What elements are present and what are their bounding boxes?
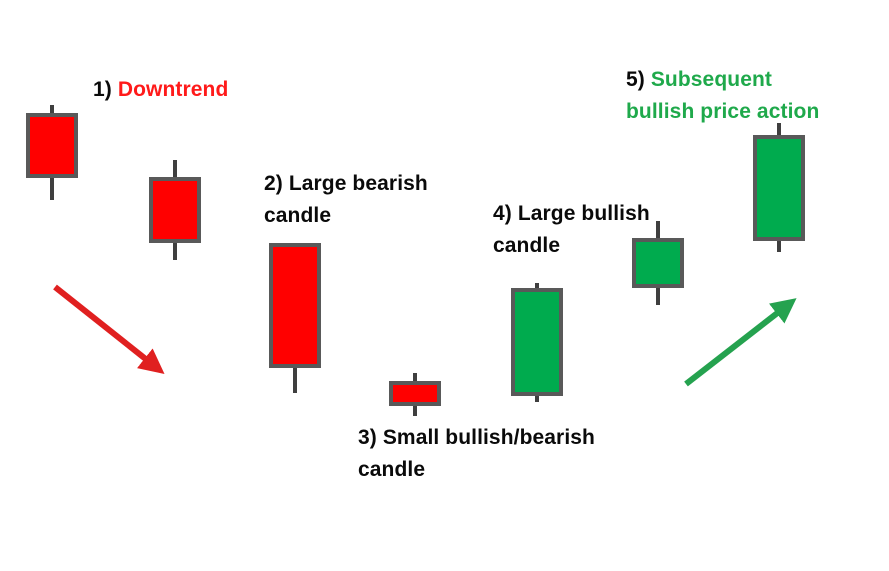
candlestick-2 <box>149 160 201 260</box>
candle-body-bearish <box>26 113 78 178</box>
candlestick-1 <box>26 105 78 200</box>
annotation-number: 3) <box>358 426 383 449</box>
candle-body-bearish <box>149 177 201 243</box>
annotation-number: 2) <box>264 172 289 195</box>
annotation-number: 1) <box>93 78 118 101</box>
candlestick-4 <box>389 373 441 416</box>
candle-body-bullish <box>511 288 563 396</box>
annotation-large-bearish-candle: 2) Large bearish candle <box>264 168 428 232</box>
annotation-downtrend: 1) Downtrend <box>93 74 228 106</box>
annotation-number: 5) <box>626 68 651 91</box>
candlestick-7 <box>753 123 805 252</box>
annotation-subsequent-bullish: 5) Subsequent bullish price action <box>626 64 819 128</box>
candle-body-bearish <box>269 243 321 368</box>
uptrend-arrow <box>686 304 789 384</box>
annotation-text: Subsequent bullish price action <box>626 68 819 123</box>
candle-body-bearish <box>389 381 441 406</box>
annotation-large-bullish-candle: 4) Large bullish candle <box>493 198 650 262</box>
candlestick-5 <box>511 283 563 402</box>
downtrend-arrow <box>55 287 157 368</box>
annotation-text: Downtrend <box>118 78 229 101</box>
annotation-small-candle: 3) Small bullish/bearish candle <box>358 422 595 486</box>
annotation-number: 4) <box>493 202 518 225</box>
annotation-text: Large bearish candle <box>264 172 428 227</box>
candlestick-diagram-canvas: 1) Downtrend2) Large bearish candle3) Sm… <box>0 0 889 571</box>
annotation-text: Small bullish/bearish candle <box>358 426 595 481</box>
candle-body-bullish <box>753 135 805 241</box>
candlestick-3 <box>269 243 321 393</box>
